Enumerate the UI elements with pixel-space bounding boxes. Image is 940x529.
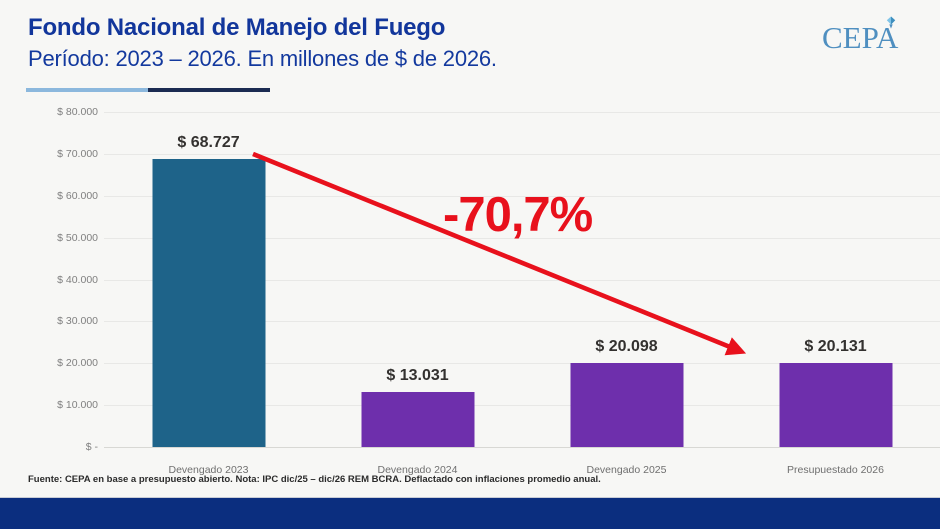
y-axis-tick-label: $ 70.000 bbox=[57, 148, 98, 160]
bar-value-label: $ 20.131 bbox=[804, 338, 866, 356]
x-axis-category-label: Presupuestado 2026 bbox=[787, 464, 884, 476]
accent-segment-dark bbox=[148, 88, 270, 92]
bar-value-label: $ 68.727 bbox=[177, 134, 239, 152]
bar-group[interactable]: $ 13.031 bbox=[313, 96, 522, 464]
header-accent-rule bbox=[26, 88, 270, 92]
bar-series: $ 68.727$ 13.031$ 20.098$ 20.131 bbox=[104, 96, 940, 464]
page-subtitle: Período: 2023 – 2026. En millones de $ d… bbox=[28, 46, 497, 72]
y-axis-tick-label: $ 50.000 bbox=[57, 232, 98, 244]
accent-segment-light bbox=[26, 88, 148, 92]
y-axis-tick-label: $ 80.000 bbox=[57, 106, 98, 118]
chart-plot-area: $ 80.000$ 70.000$ 60.000$ 50.000$ 40.000… bbox=[0, 96, 940, 464]
slide-canvas: Fondo Nacional de Manejo del Fuego Perío… bbox=[0, 0, 940, 529]
bar-group[interactable]: $ 20.098 bbox=[522, 96, 731, 464]
y-axis-tick-label: $ 20.000 bbox=[57, 357, 98, 369]
decline-percentage-label: -70,7% bbox=[443, 187, 592, 243]
bar-group[interactable]: $ 20.131 bbox=[731, 96, 940, 464]
bar-value-label: $ 20.098 bbox=[595, 338, 657, 356]
y-axis-tick-label: $ 40.000 bbox=[57, 274, 98, 286]
y-axis-tick-label: $ 60.000 bbox=[57, 190, 98, 202]
footer-bar bbox=[0, 498, 940, 529]
bar[interactable] bbox=[779, 363, 892, 447]
page-title: Fondo Nacional de Manejo del Fuego bbox=[28, 14, 445, 42]
source-note: Fuente: CEPA en base a presupuesto abier… bbox=[28, 474, 601, 485]
y-axis-tick-label: $ 30.000 bbox=[57, 315, 98, 327]
bar-value-label: $ 13.031 bbox=[386, 367, 448, 385]
bar-group[interactable]: $ 68.727 bbox=[104, 96, 313, 464]
y-axis-tick-label: $ - bbox=[86, 441, 98, 453]
y-axis-tick-label: $ 10.000 bbox=[57, 399, 98, 411]
bar[interactable] bbox=[152, 159, 265, 447]
cepa-logo: CEPA bbox=[822, 16, 918, 62]
bar[interactable] bbox=[361, 392, 474, 447]
cepa-diamond-mark-icon bbox=[882, 16, 900, 32]
bar[interactable] bbox=[570, 363, 683, 447]
slide-header: Fondo Nacional de Manejo del Fuego Perío… bbox=[0, 0, 940, 96]
y-axis: $ 80.000$ 70.000$ 60.000$ 50.000$ 40.000… bbox=[0, 96, 104, 464]
